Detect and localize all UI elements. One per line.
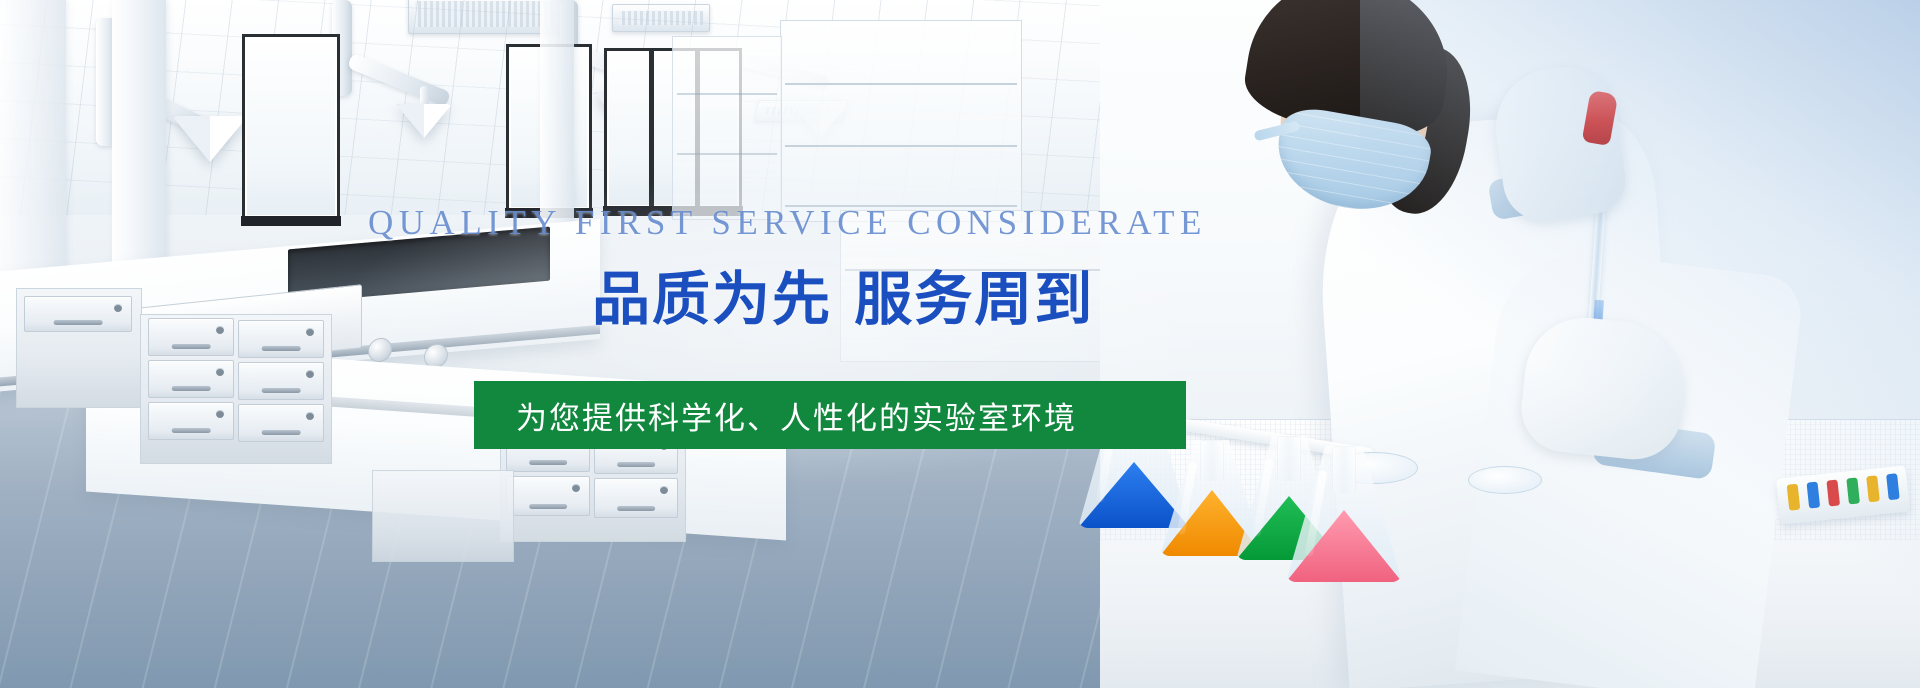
drawer-handle xyxy=(617,462,655,467)
drawer-handle xyxy=(617,506,655,511)
subtitle-text: 为您提供科学化、人性化的实验室环境 xyxy=(474,393,1077,438)
ceiling-vent xyxy=(408,0,562,34)
drawer xyxy=(148,360,234,398)
drawer-cabinet xyxy=(372,470,514,562)
test-tube xyxy=(1846,477,1860,504)
drawer xyxy=(238,320,324,358)
drawer xyxy=(238,404,324,442)
drawer xyxy=(594,478,678,518)
banner-headline: 品质为先 服务周到 xyxy=(592,252,1094,336)
drawer-lock xyxy=(572,484,580,492)
petri-dish xyxy=(1468,466,1542,494)
drawer xyxy=(506,476,590,516)
window-sill xyxy=(241,216,341,226)
drawer-handle xyxy=(262,346,301,351)
test-tube xyxy=(1866,475,1880,502)
drawer-handle xyxy=(172,344,211,349)
drawer-lock xyxy=(306,412,314,420)
ceiling-vent xyxy=(612,4,710,32)
shelf-row xyxy=(677,93,777,95)
drawer-lock xyxy=(306,370,314,378)
drawer-handle xyxy=(529,460,567,465)
fume-hood-lamp xyxy=(172,116,248,162)
wall-shelf-unit xyxy=(780,20,1022,222)
window-mullion xyxy=(649,51,654,207)
scientist-scene xyxy=(1100,0,1920,688)
bench-knob xyxy=(368,337,392,364)
shelf-row xyxy=(677,153,777,155)
drawer-lock xyxy=(660,486,668,494)
english-tagline: QUALITY FIRST SERVICE CONSIDERATE xyxy=(368,203,1207,243)
drawer xyxy=(148,402,234,440)
wall-shelf-unit xyxy=(672,36,782,220)
test-tube xyxy=(1886,473,1900,500)
drawer xyxy=(24,296,132,332)
drawer-handle xyxy=(529,504,567,509)
drawer-handle xyxy=(172,386,211,391)
drawer-handle xyxy=(262,430,301,435)
hero-banner: QUALITY FIRST SERVICE CONSIDERATE 品质为先 服… xyxy=(0,0,1920,688)
fume-hood-lamp xyxy=(396,104,452,138)
extractor-stem xyxy=(420,86,429,106)
drawer-lock xyxy=(306,328,314,336)
test-tube xyxy=(1787,484,1801,511)
subtitle-bar: 为您提供科学化、人性化的实验室环境 xyxy=(474,381,1186,449)
window xyxy=(242,34,340,220)
lab-background-photo xyxy=(0,0,1920,688)
drawer xyxy=(238,362,324,400)
shelf-row xyxy=(785,145,1017,147)
wall-column xyxy=(112,0,166,300)
drawer-handle xyxy=(262,388,301,393)
drawer-lock xyxy=(216,326,224,334)
drawer-lock xyxy=(114,304,122,312)
test-tube xyxy=(1807,482,1821,509)
drawer-lock xyxy=(216,410,224,418)
drawer-lock xyxy=(216,368,224,376)
drawer-handle xyxy=(172,428,211,433)
erlenmeyer-flask-pink xyxy=(1286,446,1402,582)
drawer-handle xyxy=(54,320,103,325)
shelf-row xyxy=(785,83,1017,85)
drawer xyxy=(148,318,234,356)
test-tube xyxy=(1826,480,1840,507)
